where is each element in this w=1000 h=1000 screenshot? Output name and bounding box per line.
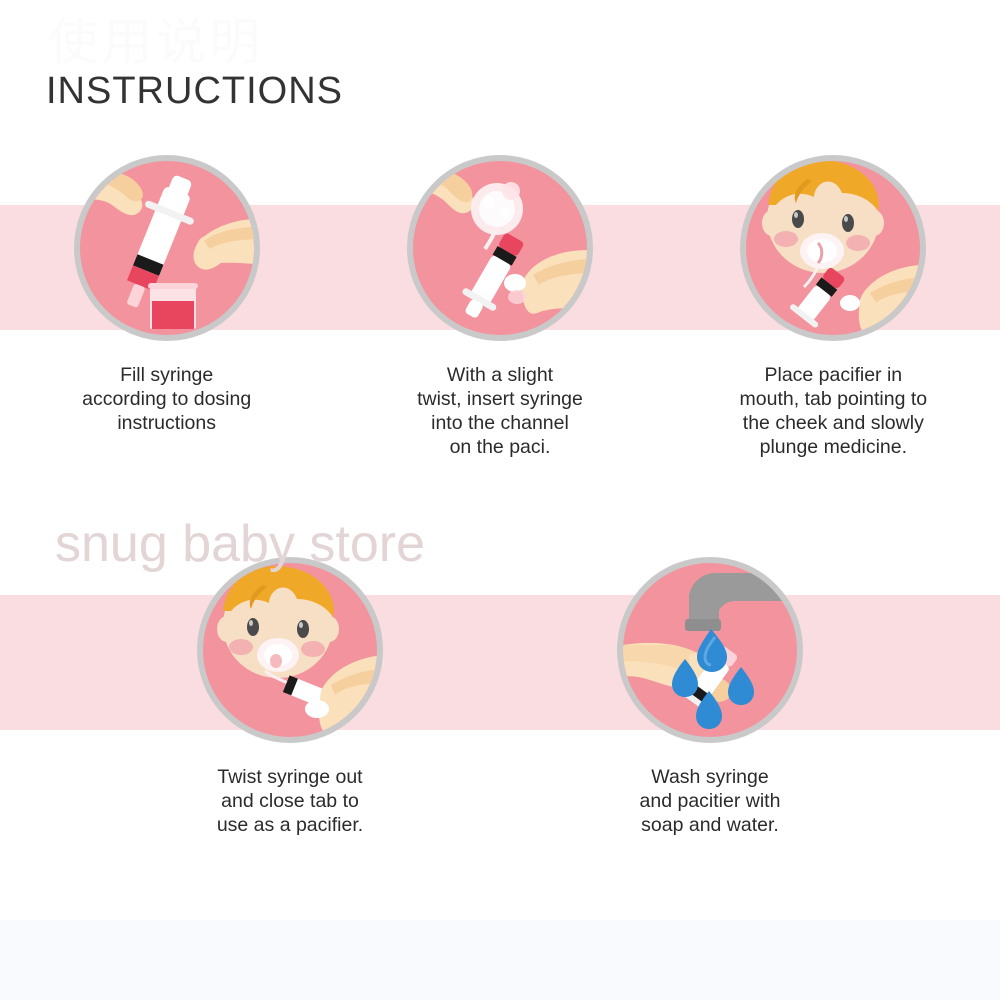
page-title: INSTRUCTIONS [46, 70, 343, 113]
baby-twist-syringe-out-icon [203, 563, 377, 737]
steps-row-bottom: Twist syringe out and close tab to use a… [0, 557, 1000, 837]
cjk-watermark: 使用说明 [48, 2, 264, 74]
step-item-5: Wash syringe and pacitier with soap and … [500, 557, 920, 837]
step-item-3: Place pacifier in mouth, tab pointing to… [667, 155, 1000, 459]
wash-syringe-faucet-icon [623, 563, 797, 737]
syringe-into-pacifier-icon [413, 161, 587, 335]
step-item-2: With a slight twist, insert syringe into… [333, 155, 666, 459]
step-item-4: Twist syringe out and close tab to use a… [80, 557, 500, 837]
step-5-caption: Wash syringe and pacitier with soap and … [640, 765, 781, 837]
steps-row-top: Fill syringe according to dosing instruc… [0, 155, 1000, 459]
step-1-illustration [74, 155, 260, 341]
step-2-caption: With a slight twist, insert syringe into… [417, 363, 583, 459]
step-3-caption: Place pacifier in mouth, tab pointing to… [740, 363, 928, 459]
step-3-illustration [740, 155, 926, 341]
decorative-band-footer [0, 920, 1000, 1000]
syringe-filling-from-cup-icon [80, 161, 254, 335]
brand-watermark: snug baby store [55, 514, 425, 574]
step-2-illustration [407, 155, 593, 341]
step-5-illustration [617, 557, 803, 743]
step-4-caption: Twist syringe out and close tab to use a… [217, 765, 363, 837]
baby-pacifier-plunge-icon [746, 161, 920, 335]
step-item-1: Fill syringe according to dosing instruc… [0, 155, 333, 459]
step-1-caption: Fill syringe according to dosing instruc… [82, 363, 251, 435]
step-4-illustration [197, 557, 383, 743]
